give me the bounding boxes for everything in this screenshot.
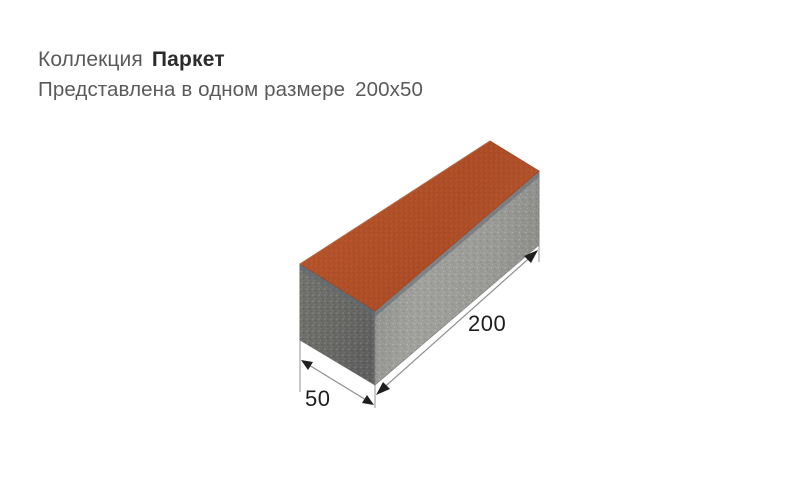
block-solid	[300, 141, 539, 385]
arrowhead-50-end	[362, 395, 374, 405]
arrowhead-50-start	[301, 360, 313, 370]
block-isometric-drawing	[0, 0, 800, 496]
dimension-label-width: 50	[305, 386, 330, 412]
page-root: КоллекцияПаркет Представлена в одном раз…	[0, 0, 800, 496]
product-figure: 200 50	[0, 0, 800, 496]
dimension-label-length: 200	[468, 311, 506, 337]
